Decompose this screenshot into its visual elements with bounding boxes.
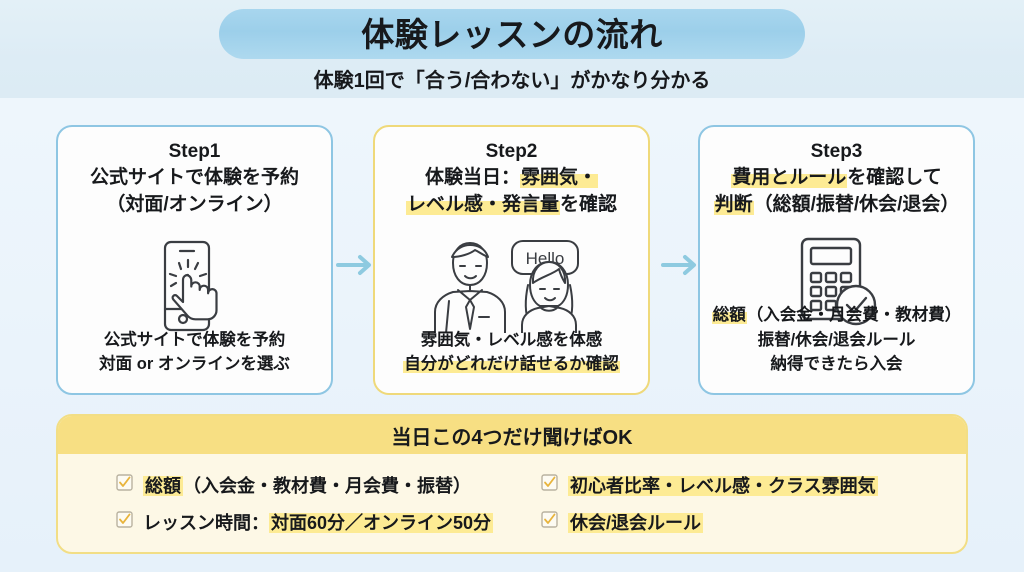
step2-head-line2: レベル感・発言量を確認: [375, 192, 648, 219]
step-card-2[interactable]: Step2 体験当日：雰囲気・ レベル感・発言量を確認: [373, 125, 650, 395]
checklist-item[interactable]: 総額（入会金・教材費・月会費・振替）: [116, 472, 541, 498]
checklist-item-highlight: 休会/退会ルール: [568, 513, 703, 533]
page-subtitle: 体験1回で「合う/合わない」がかなり分かる: [0, 64, 1024, 93]
step1-head-line1: 公式サイトで体験を予約: [58, 165, 331, 192]
summary-panel-body: 総額（入会金・教材費・月会費・振替） 初心者比率・レベル感・クラス雰囲気: [58, 454, 966, 552]
step3-head-line2-highlight: 判断: [714, 194, 754, 215]
checklist-item-label: レッスン時間：対面60分／オンライン50分: [143, 509, 493, 535]
checklist-item-label: 総額（入会金・教材費・月会費・振替）: [143, 472, 471, 498]
arrow-right-icon-2: [661, 252, 699, 278]
slide-canvas: 体験レッスンの流れ 体験1回で「合う/合わない」がかなり分かる Step1 公式…: [0, 0, 1024, 572]
step3-head-line1-plain: を確認して: [847, 167, 941, 188]
step3-foot-line1-highlight: 総額: [712, 306, 747, 324]
step1-label: Step1: [58, 139, 331, 165]
checkbox-checked-icon[interactable]: [541, 474, 558, 496]
phone-tap-icon: [58, 235, 331, 339]
step1-foot-line1: 公式サイトで体験を予約: [58, 328, 331, 353]
step1-footer: 公式サイトで体験を予約 対面 or オンラインを選ぶ: [58, 328, 331, 378]
step3-head-line1-highlight: 費用とルール: [731, 167, 847, 188]
step2-head-line1-plain: 体験当日：: [425, 167, 520, 188]
checkbox-checked-icon[interactable]: [541, 511, 558, 533]
checkbox-checked-icon[interactable]: [116, 511, 133, 533]
step2-label: Step2: [375, 139, 648, 165]
step2-foot-line1: 雰囲気・レベル感を体感: [375, 328, 648, 353]
step2-foot-line2-highlight: 自分がどれだけ話せるか確認: [403, 355, 620, 373]
step3-foot-line1-plain: （入会金・月会費・教材費）: [747, 306, 962, 324]
two-people-speech-icon: Hello: [375, 231, 648, 335]
step1-foot-line2: 対面 or オンラインを選ぶ: [58, 352, 331, 377]
step-card-1[interactable]: Step1 公式サイトで体験を予約 （対面/オンライン）: [56, 125, 333, 395]
step2-head-line2-highlight: レベル感・発言量: [406, 194, 560, 215]
step3-heading: Step3 費用とルールを確認して 判断（総額/振替/休会/退会）: [700, 139, 973, 219]
step2-head-line2-plain: を確認: [560, 194, 617, 215]
step3-head-line2: 判断（総額/振替/休会/退会）: [700, 192, 973, 219]
step1-head-line2: （対面/オンライン）: [58, 192, 331, 219]
step2-footer: 雰囲気・レベル感を体感 自分がどれだけ話せるか確認: [375, 328, 648, 378]
arrow-right-icon-1: [336, 252, 374, 278]
checklist-item-plain: レッスン時間：: [143, 513, 269, 533]
summary-panel-header: 当日この4つだけ聞けばOK: [58, 416, 966, 454]
step3-head-line1: 費用とルールを確認して: [700, 165, 973, 192]
step2-head-line1-highlight: 雰囲気・: [520, 167, 598, 188]
checklist-item[interactable]: レッスン時間：対面60分／オンライン50分: [116, 509, 541, 535]
summary-panel-heading: 当日この4つだけ聞けばOK: [391, 421, 632, 450]
step2-foot-line2: 自分がどれだけ話せるか確認: [375, 352, 648, 377]
checklist-item-highlight: 総額: [143, 476, 183, 496]
checklist-item-label: 初心者比率・レベル感・クラス雰囲気: [568, 472, 878, 498]
summary-panel: 当日この4つだけ聞けばOK 総額（入会金・教材費・月会費・振替）: [56, 414, 968, 554]
checkbox-checked-icon[interactable]: [116, 474, 133, 496]
step3-foot-line2: 振替/休会/退会ルール: [700, 328, 973, 353]
checklist-item[interactable]: 休会/退会ルール: [541, 509, 966, 535]
checklist-item-label: 休会/退会ルール: [568, 509, 703, 535]
checklist-item-highlight: 初心者比率・レベル感・クラス雰囲気: [568, 476, 878, 496]
step-card-3[interactable]: Step3 費用とルールを確認して 判断（総額/振替/休会/退会） 総額（入: [698, 125, 975, 395]
step3-label: Step3: [700, 139, 973, 165]
step3-footer: 総額（入会金・月会費・教材費） 振替/休会/退会ルール 納得できたら入会: [700, 303, 973, 377]
step2-head-line1: 体験当日：雰囲気・: [375, 165, 648, 192]
step3-foot-line3: 納得できたら入会: [700, 352, 973, 377]
page-title: 体験レッスンの流れ: [361, 18, 663, 51]
step3-foot-line1: 総額（入会金・月会費・教材費）: [700, 303, 973, 328]
step3-head-line2-plain: （総額/振替/休会/退会）: [754, 194, 960, 215]
checklist-item[interactable]: 初心者比率・レベル感・クラス雰囲気: [541, 472, 966, 498]
step2-heading: Step2 体験当日：雰囲気・ レベル感・発言量を確認: [375, 139, 648, 219]
checklist-item-highlight: 対面60分／オンライン50分: [269, 513, 493, 533]
checklist-item-plain: （入会金・教材費・月会費・振替）: [183, 476, 471, 496]
step1-heading: Step1 公式サイトで体験を予約 （対面/オンライン）: [58, 139, 331, 219]
title-banner: 体験レッスンの流れ: [219, 9, 805, 59]
